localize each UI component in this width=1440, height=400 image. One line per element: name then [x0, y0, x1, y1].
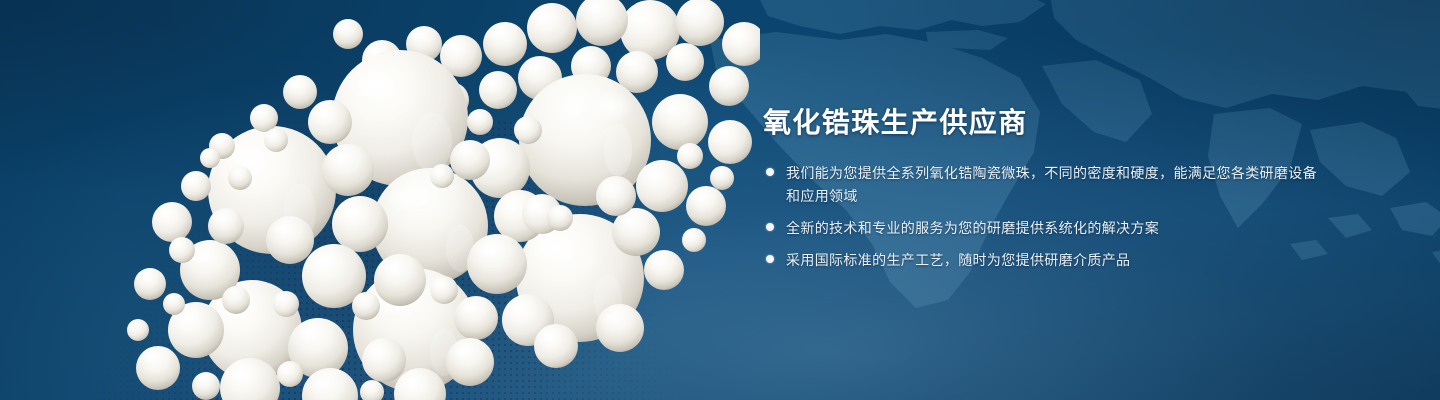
zirconia-beads-image [0, 0, 760, 400]
list-item-label: 采用国际标准的生产工艺，随时为您提供研磨介质产品 [786, 249, 1130, 272]
list-item: 我们能为您提供全系列氧化锆陶瓷微珠，不同的密度和硬度，能满足您各类研磨设备和应用… [763, 162, 1323, 208]
banner-copy: 氧化锆珠生产供应商 我们能为您提供全系列氧化锆陶瓷微珠，不同的密度和硬度，能满足… [763, 106, 1323, 281]
filled-circle-icon [766, 255, 774, 263]
feature-bullet-list: 我们能为您提供全系列氧化锆陶瓷微珠，不同的密度和硬度，能满足您各类研磨设备和应用… [763, 162, 1323, 272]
filled-circle-icon [766, 223, 774, 231]
list-item-label: 我们能为您提供全系列氧化锆陶瓷微珠，不同的密度和硬度，能满足您各类研磨设备和应用… [786, 162, 1323, 208]
hero-banner: 氧化锆珠生产供应商 我们能为您提供全系列氧化锆陶瓷微珠，不同的密度和硬度，能满足… [0, 0, 1440, 400]
list-item: 全新的技术和专业的服务为您的研磨提供系统化的解决方案 [763, 217, 1323, 240]
filled-circle-icon [766, 168, 774, 176]
page-title: 氧化锆珠生产供应商 [763, 106, 1323, 140]
list-item-label: 全新的技术和专业的服务为您的研磨提供系统化的解决方案 [786, 217, 1159, 240]
list-item: 采用国际标准的生产工艺，随时为您提供研磨介质产品 [763, 249, 1323, 272]
